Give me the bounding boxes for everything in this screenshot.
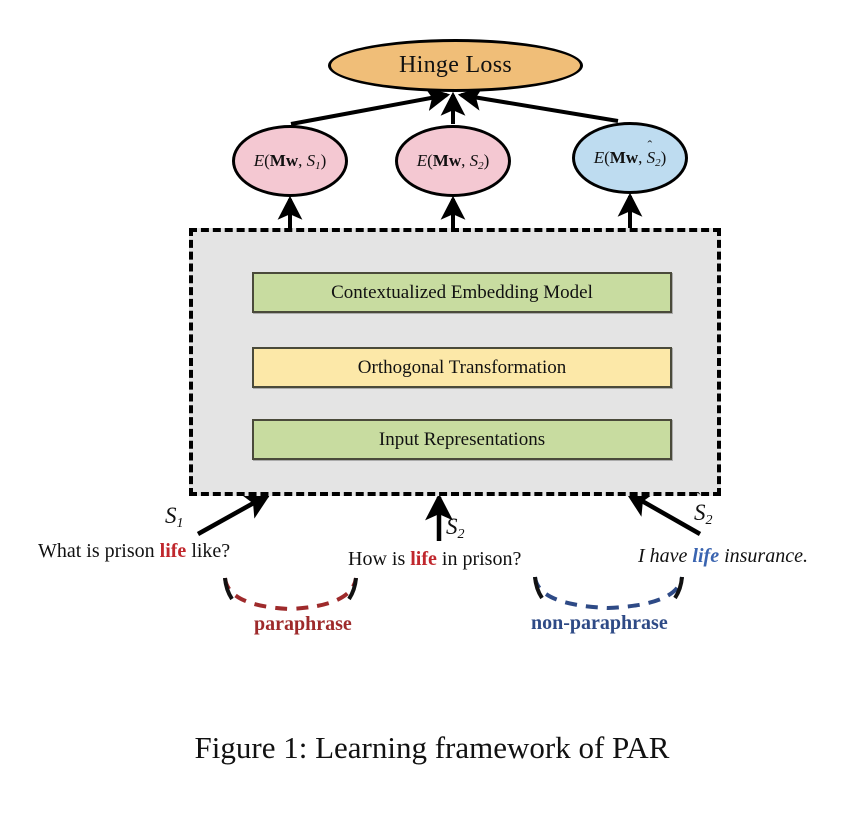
- sentence-s2-keyword: life: [410, 548, 437, 570]
- energy-node-s2-label: E(Mw, S2): [417, 151, 490, 172]
- sentence-s1-after: like?: [186, 540, 230, 562]
- arrow-s2hat-to-model: [628, 493, 700, 534]
- layer-contextualized-embedding-model: Contextualized Embedding Model: [252, 272, 672, 313]
- figure-caption: Figure 1: Learning framework of PAR: [0, 730, 864, 766]
- sentence-s2-after: in prison?: [437, 548, 521, 570]
- arrow-e1-to-loss: [291, 95, 447, 124]
- layer-embed-label: Contextualized Embedding Model: [331, 282, 593, 304]
- layer-input-label: Input Representations: [379, 429, 545, 451]
- input-sentence-s1: What is prison life like?: [38, 540, 230, 563]
- energy-node-s1: E(Mw, S1): [232, 125, 348, 197]
- hinge-loss-label: Hinge Loss: [399, 52, 512, 79]
- sentence-s1-keyword: life: [160, 540, 187, 562]
- hinge-loss-node: Hinge Loss: [328, 39, 583, 92]
- layer-orth-label: Orthogonal Transformation: [358, 357, 566, 379]
- symbol-s2: S2: [446, 514, 465, 543]
- input-sentence-s2hat: I have life insurance.: [638, 545, 808, 568]
- input-sentence-s2: How is life in prison?: [348, 548, 521, 571]
- sentence-s1-before: What is prison: [38, 540, 160, 562]
- energy-node-s2hat-label: E(Mw, ˆS2): [594, 148, 667, 169]
- energy-node-s1-label: E(Mw, S1): [254, 151, 327, 172]
- figure-canvas: Hinge Loss E(Mw, S1) E(Mw, S2) E(Mw, ˆS2…: [0, 0, 864, 814]
- sentence-s2hat-keyword: life: [692, 545, 719, 567]
- energy-node-s2hat: E(Mw, ˆS2): [572, 122, 688, 194]
- symbol-s2hat: ˆS2: [694, 500, 713, 529]
- layer-input-representations: Input Representations: [252, 419, 672, 460]
- relation-label-non-paraphrase: non-paraphrase: [531, 612, 668, 635]
- model-container: Contextualized Embedding Model Orthogona…: [189, 228, 721, 496]
- sentence-s2-before: How is: [348, 548, 410, 570]
- sentence-s2hat-before: I have: [638, 545, 692, 567]
- energy-node-s2: E(Mw, S2): [395, 125, 511, 197]
- relation-label-paraphrase: paraphrase: [254, 613, 352, 636]
- paraphrase-bracket: [225, 578, 356, 609]
- symbol-s1: S1: [165, 503, 184, 532]
- layer-orthogonal-transformation: Orthogonal Transformation: [252, 347, 672, 388]
- sentence-s2hat-after: insurance.: [719, 545, 808, 567]
- arrow-e3-to-loss: [461, 95, 618, 121]
- non-paraphrase-bracket: [535, 577, 682, 608]
- arrow-s1-to-model: [198, 495, 268, 534]
